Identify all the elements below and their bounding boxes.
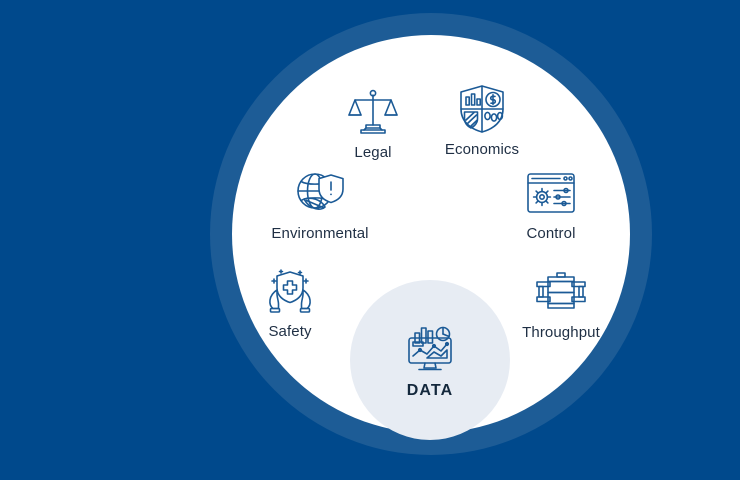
analytics-dashboard-icon [403, 322, 457, 376]
node-label: Environmental [271, 225, 368, 243]
node-safety[interactable]: Safety [215, 264, 365, 341]
settings-window-icon [524, 166, 578, 220]
node-throughput[interactable]: Throughput [486, 265, 636, 342]
pipe-valve-icon [534, 265, 588, 319]
core-label: DATA [407, 382, 453, 400]
node-data-core[interactable]: DATA [355, 322, 505, 400]
balance-scale-icon [346, 85, 400, 139]
node-control[interactable]: Control [476, 166, 626, 243]
node-label: Control [526, 225, 575, 243]
node-economics[interactable]: Economics [407, 82, 557, 159]
node-label: Economics [445, 141, 519, 159]
node-label: Legal [354, 144, 391, 162]
node-label: Throughput [522, 324, 600, 342]
diagram-canvas: Legal [0, 0, 740, 480]
economics-shield-icon [455, 82, 509, 136]
hands-shield-cross-icon [263, 264, 317, 318]
node-label: Safety [268, 323, 311, 341]
globe-shield-leaf-icon [293, 166, 347, 220]
node-environmental[interactable]: Environmental [245, 166, 395, 243]
